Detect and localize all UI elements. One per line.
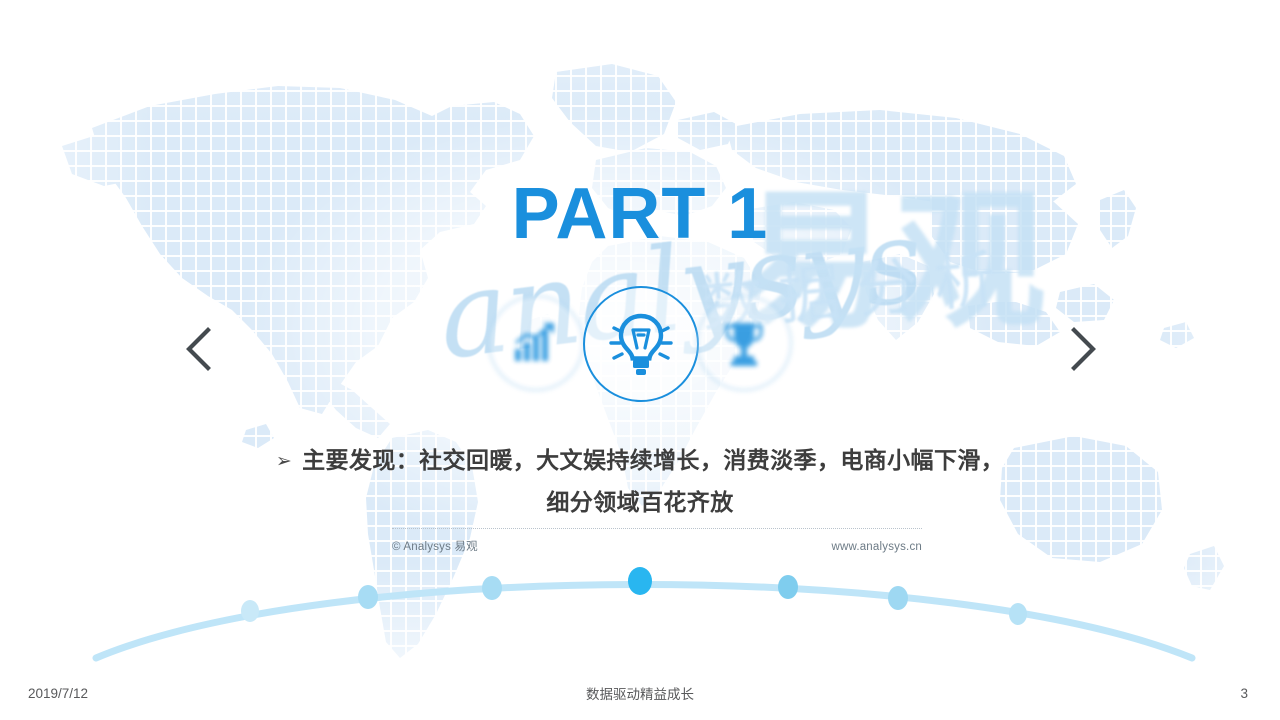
icon-cluster [486,286,794,404]
footer-tagline: 数据驱动精益成长 [0,683,1280,703]
chevron-right-glyph [1066,326,1100,372]
bar-chart-growth-glyph [512,321,560,365]
key-findings-line-1: ➢主要发现：社交回暖，大文娱持续增长，消费淡季，电商小幅下滑， [160,440,1120,482]
key-findings-block: ➢主要发现：社交回暖，大文娱持续增长，消费淡季，电商小幅下滑， 细分领域百花齐放 [160,440,1120,522]
lightbulb-icon [583,286,699,402]
arrow-bullet-icon: ➢ [276,442,292,482]
chevron-right-icon[interactable] [1056,316,1110,382]
slide-canvas: analysys 易观 数据分析 PART 1 [0,0,1280,720]
slide-footer: 2019/7/12 数据驱动精益成长 3 [0,666,1280,720]
website-link[interactable]: www.analysys.cn [831,541,922,553]
trophy-icon [696,295,792,391]
credit-divider [392,528,922,529]
chevron-left-icon[interactable] [172,316,226,382]
bar-chart-growth-icon [488,295,584,391]
copyright-text: © Analysys 易观 [392,538,478,554]
chevron-left-glyph [182,326,216,372]
trophy-glyph [721,319,767,367]
credit-strip: © Analysys 易观 www.analysys.cn [392,528,922,554]
key-findings-text-1: 主要发现：社交回暖，大文娱持续增长，消费淡季，电商小幅下滑， [302,447,1004,473]
lightbulb-glyph [609,310,673,378]
footer-page-number: 3 [1240,686,1248,701]
key-findings-line-2: 细分领域百花齐放 [160,482,1120,522]
credit-row: © Analysys 易观 www.analysys.cn [392,538,922,554]
page-title: PART 1 [0,178,1280,250]
